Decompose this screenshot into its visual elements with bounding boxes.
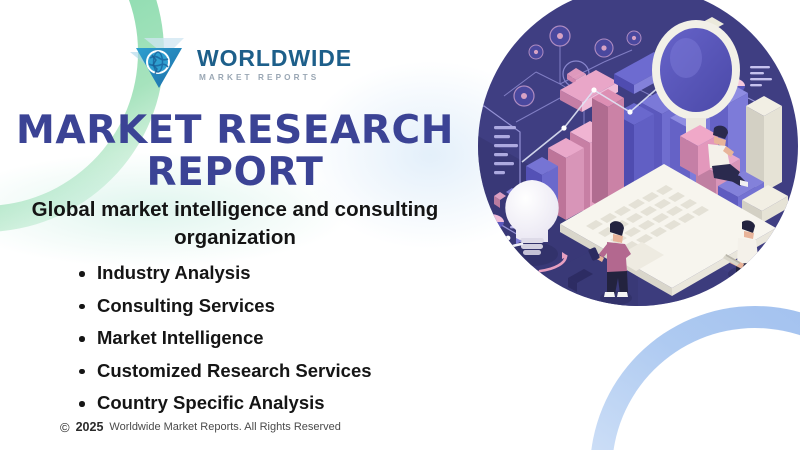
headline-line-1: MARKET RESEARCH (16, 108, 454, 153)
list-item: Market Intelligence (78, 329, 372, 348)
footer-copyright: © 2025 Worldwide Market Reports. All Rig… (60, 420, 341, 434)
brand-logo[interactable]: WORLDWIDE MARKET REPORTS (126, 36, 352, 92)
brand-wordmark: WORLDWIDE MARKET REPORTS (197, 45, 352, 82)
list-item: Country Specific Analysis (78, 394, 372, 413)
poster-content: WORLDWIDE MARKET REPORTS MARKET RESEARCH… (0, 0, 470, 450)
copyright-year: 2025 (76, 420, 104, 434)
copyright-text: Worldwide Market Reports. All Rights Res… (109, 421, 341, 433)
page-title: MARKET RESEARCH REPORT (0, 110, 470, 193)
list-item: Consulting Services (78, 297, 372, 316)
globe-triangle-logo-icon (126, 36, 188, 92)
list-item: Customized Research Services (78, 362, 372, 381)
isometric-market-research-illustration (464, 0, 800, 334)
list-item: Industry Analysis (78, 264, 372, 283)
headline-line-2: REPORT (0, 152, 470, 194)
copyright-icon: © (60, 421, 70, 434)
services-list: Industry Analysis Consulting Services Ma… (78, 264, 372, 427)
brand-tagline: MARKET REPORTS (197, 74, 352, 82)
page-subtitle: Global market intelligence and consultin… (26, 196, 444, 251)
market-research-report-poster: WORLDWIDE MARKET REPORTS MARKET RESEARCH… (0, 0, 800, 450)
brand-name: WORLDWIDE (197, 47, 352, 70)
